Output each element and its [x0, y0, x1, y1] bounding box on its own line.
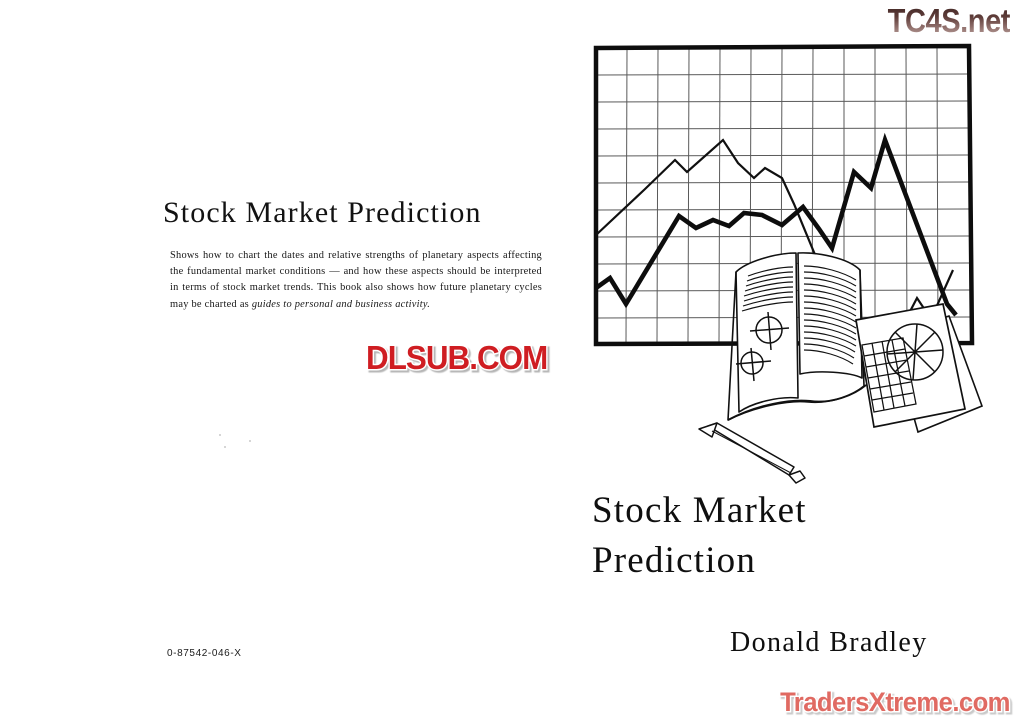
cover-artwork: [560, 0, 1024, 500]
back-cover-blurb: Shows how to chart the dates and relativ…: [170, 248, 542, 313]
front-title-line-2: Prediction: [592, 536, 807, 586]
front-cover-panel: Stock Market Prediction Donald Bradley: [560, 0, 1024, 724]
watermark-tc4s: TC4S.net: [888, 2, 1010, 40]
watermark-dlsub: DLSUB.COM: [366, 339, 547, 377]
scan-speck: [224, 446, 226, 448]
scan-speck: [219, 434, 221, 436]
scan-speck: [249, 440, 251, 442]
watermark-tradersxtreme: TradersXtreme.com: [780, 687, 1010, 718]
front-cover-author: Donald Bradley: [730, 627, 928, 659]
front-title-line-1: Stock Market: [592, 486, 807, 536]
back-cover-title: Stock Market Prediction: [163, 196, 482, 230]
isbn-number: 0-87542-046-X: [167, 648, 242, 659]
open-book-icon: [728, 253, 866, 420]
blurb-emphasis: guides to personal and business activity…: [252, 299, 430, 310]
front-cover-title: Stock Market Prediction: [592, 486, 807, 586]
book-cover-page: Stock Market Prediction Shows how to cha…: [0, 0, 1024, 724]
pencil-icon: [699, 423, 805, 483]
